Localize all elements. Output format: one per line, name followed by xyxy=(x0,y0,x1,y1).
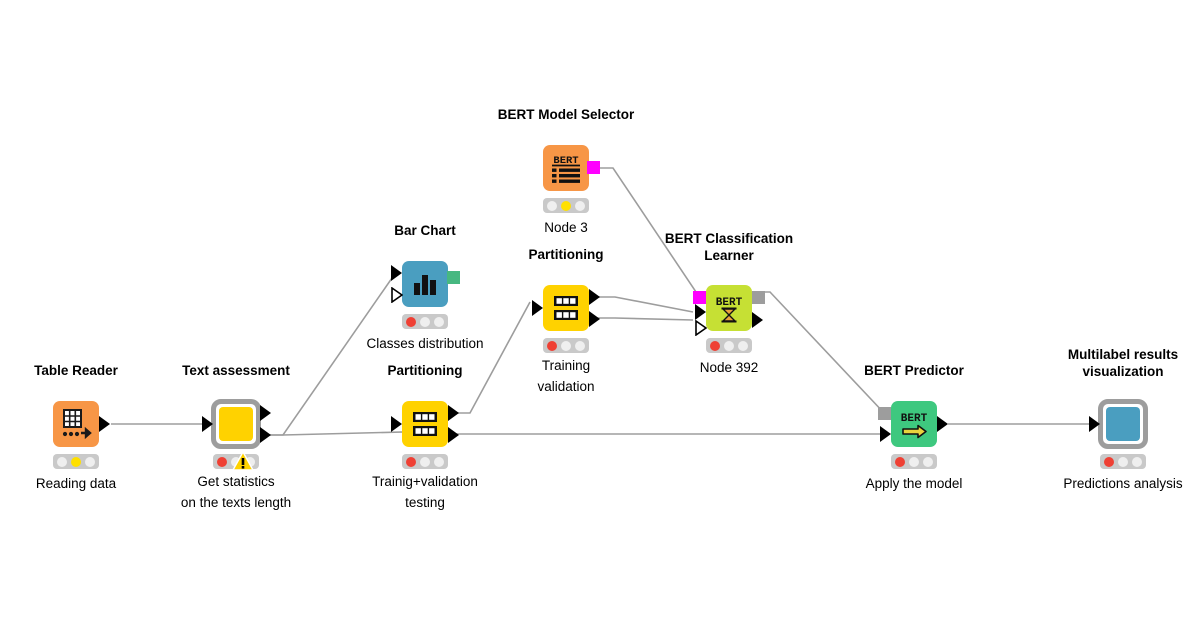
port-in-data[interactable] xyxy=(1089,416,1100,432)
port-in-data[interactable] xyxy=(695,304,706,320)
metanode-inner xyxy=(1106,407,1140,441)
svg-text:BERT: BERT xyxy=(716,297,743,309)
port-in-data[interactable] xyxy=(532,300,543,316)
port-out-data-top[interactable] xyxy=(260,405,271,421)
edge-partitioning-upper-to-learner-2 xyxy=(596,318,693,320)
status-lamp-yellow xyxy=(71,457,81,467)
port-out-data-top[interactable] xyxy=(448,405,459,421)
status-lamp-green xyxy=(575,341,585,351)
edge-partitioning-upper-to-learner-1 xyxy=(596,297,693,312)
status-lamp-green xyxy=(434,317,444,327)
node-label: Classes distribution xyxy=(310,333,540,354)
table-reader-glyph xyxy=(53,401,99,447)
bar-chart-glyph xyxy=(402,261,448,307)
status-lamp-red xyxy=(547,201,557,211)
bert-predictor-icon[interactable]: BERT xyxy=(891,401,937,447)
port-out-data[interactable] xyxy=(937,416,948,432)
port-in-flowvariable[interactable] xyxy=(391,287,403,308)
port-out-data-bottom[interactable] xyxy=(589,311,600,327)
workflow-connections xyxy=(0,0,1200,630)
partitioning-icon[interactable] xyxy=(402,401,448,447)
port-out-data[interactable] xyxy=(752,312,763,328)
node-status-traffic-light xyxy=(891,454,937,469)
metanode-icon[interactable] xyxy=(1098,399,1148,449)
node-status-traffic-light xyxy=(53,454,99,469)
node-title: Multilabel results visualization xyxy=(1008,346,1200,380)
node-label: Trainig+validation testing xyxy=(310,471,540,513)
node-status-traffic-light xyxy=(1100,454,1146,469)
status-lamp-green xyxy=(1132,457,1142,467)
partitioning-glyph xyxy=(543,285,589,331)
edge-text-assessment-to-bar-chart xyxy=(264,278,392,435)
metanode-inner xyxy=(219,407,253,441)
status-lamp-yellow xyxy=(420,317,430,327)
status-lamp-red xyxy=(895,457,905,467)
edge-learner-to-bert-predictor xyxy=(758,292,893,414)
port-out-data-top[interactable] xyxy=(589,289,600,305)
port-out-data-bottom[interactable] xyxy=(260,427,271,443)
metanode-icon[interactable] xyxy=(211,399,261,449)
status-lamp-green xyxy=(923,457,933,467)
node-label: Apply the model xyxy=(799,473,1029,494)
port-in-data[interactable] xyxy=(202,416,213,432)
port-in-data[interactable] xyxy=(391,416,402,432)
workflow-canvas[interactable]: Table Reader Readin xyxy=(0,0,1200,630)
svg-text:BERT: BERT xyxy=(901,413,928,425)
bert-learner-glyph: BERT xyxy=(706,285,752,331)
port-in-data[interactable] xyxy=(880,426,891,442)
status-lamp-yellow xyxy=(420,457,430,467)
status-lamp-green xyxy=(434,457,444,467)
status-lamp-green xyxy=(85,457,95,467)
port-out-bert-model[interactable] xyxy=(752,291,765,304)
partitioning-icon[interactable] xyxy=(543,285,589,331)
port-in-data[interactable] xyxy=(391,265,402,281)
status-lamp-yellow xyxy=(724,341,734,351)
bert-learner-icon[interactable]: BERT xyxy=(706,285,752,331)
node-status-traffic-light xyxy=(543,198,589,213)
port-in-bert-model[interactable] xyxy=(878,407,891,420)
node-label: Predictions analysis xyxy=(1008,473,1200,494)
node-status-traffic-light xyxy=(402,314,448,329)
node-title: BERT Classification Learner xyxy=(614,230,844,264)
node-title: BERT Model Selector xyxy=(451,106,681,123)
status-lamp-red xyxy=(217,457,227,467)
bert-list-icon[interactable]: BERT xyxy=(543,145,589,191)
status-lamp-yellow xyxy=(909,457,919,467)
port-out-image[interactable] xyxy=(447,271,460,284)
bert-list-glyph: BERT xyxy=(543,145,589,191)
status-lamp-red xyxy=(1104,457,1114,467)
partitioning-glyph xyxy=(402,401,448,447)
status-lamp-green xyxy=(738,341,748,351)
status-lamp-yellow xyxy=(1118,457,1128,467)
node-status-traffic-light xyxy=(706,338,752,353)
port-out-data-bottom[interactable] xyxy=(448,427,459,443)
status-lamp-red xyxy=(710,341,720,351)
node-title: BERT Predictor xyxy=(799,362,1029,379)
status-lamp-red xyxy=(406,457,416,467)
port-out-data[interactable] xyxy=(99,416,110,432)
status-lamp-red xyxy=(57,457,67,467)
table-reader-icon[interactable] xyxy=(53,401,99,447)
port-in-flowvariable[interactable] xyxy=(695,320,707,341)
status-lamp-red xyxy=(406,317,416,327)
bert-predictor-glyph: BERT xyxy=(891,401,937,447)
port-in-bert-model[interactable] xyxy=(693,291,706,304)
status-lamp-yellow xyxy=(561,201,571,211)
status-lamp-yellow xyxy=(561,341,571,351)
port-out-bert-model[interactable] xyxy=(587,161,600,174)
node-status-traffic-light xyxy=(543,338,589,353)
node-status-traffic-light xyxy=(402,454,448,469)
status-lamp-green xyxy=(575,201,585,211)
status-lamp-red xyxy=(547,341,557,351)
bar-chart-icon[interactable] xyxy=(402,261,448,307)
warning-icon[interactable] xyxy=(232,451,252,470)
